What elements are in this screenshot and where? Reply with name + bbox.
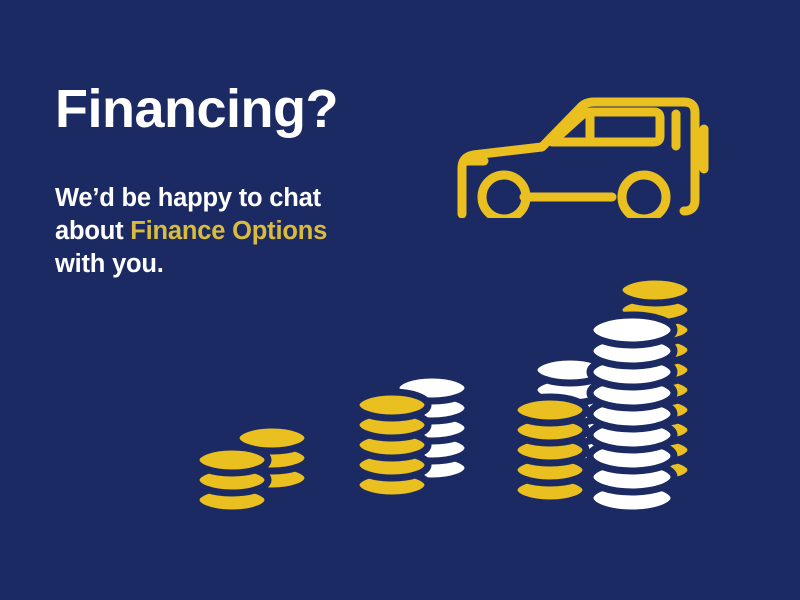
subcopy-line-2-prefix: about	[55, 217, 130, 245]
coin-stack-large-front-center	[590, 315, 674, 513]
coin-stack-medium-front	[356, 392, 428, 498]
subcopy-line-1: We’d be happy to chat	[55, 182, 415, 215]
page-title: Financing?	[55, 82, 415, 136]
car-rear-wheel-icon	[622, 175, 666, 218]
car-icon-wrapper	[448, 84, 712, 218]
financing-promo-slide: Financing? We’d be happy to chat about F…	[0, 0, 800, 600]
coin-stack-small-front	[196, 447, 268, 513]
coin-group-medium	[356, 375, 468, 498]
subcopy-line-2: about Finance Options	[55, 215, 415, 248]
finance-options-highlight: Finance Options	[130, 217, 327, 245]
coin-group-large	[514, 277, 691, 513]
car-front-wheel-icon	[482, 175, 526, 218]
suv-car-outline-icon	[448, 84, 712, 218]
coin-group-small	[196, 425, 308, 513]
text-block: Financing? We’d be happy to chat about F…	[55, 82, 415, 281]
coin-stacks-wrapper	[0, 255, 800, 545]
coin-stack-large-front-left	[514, 397, 586, 503]
growing-coin-stacks-illustration	[0, 255, 800, 545]
